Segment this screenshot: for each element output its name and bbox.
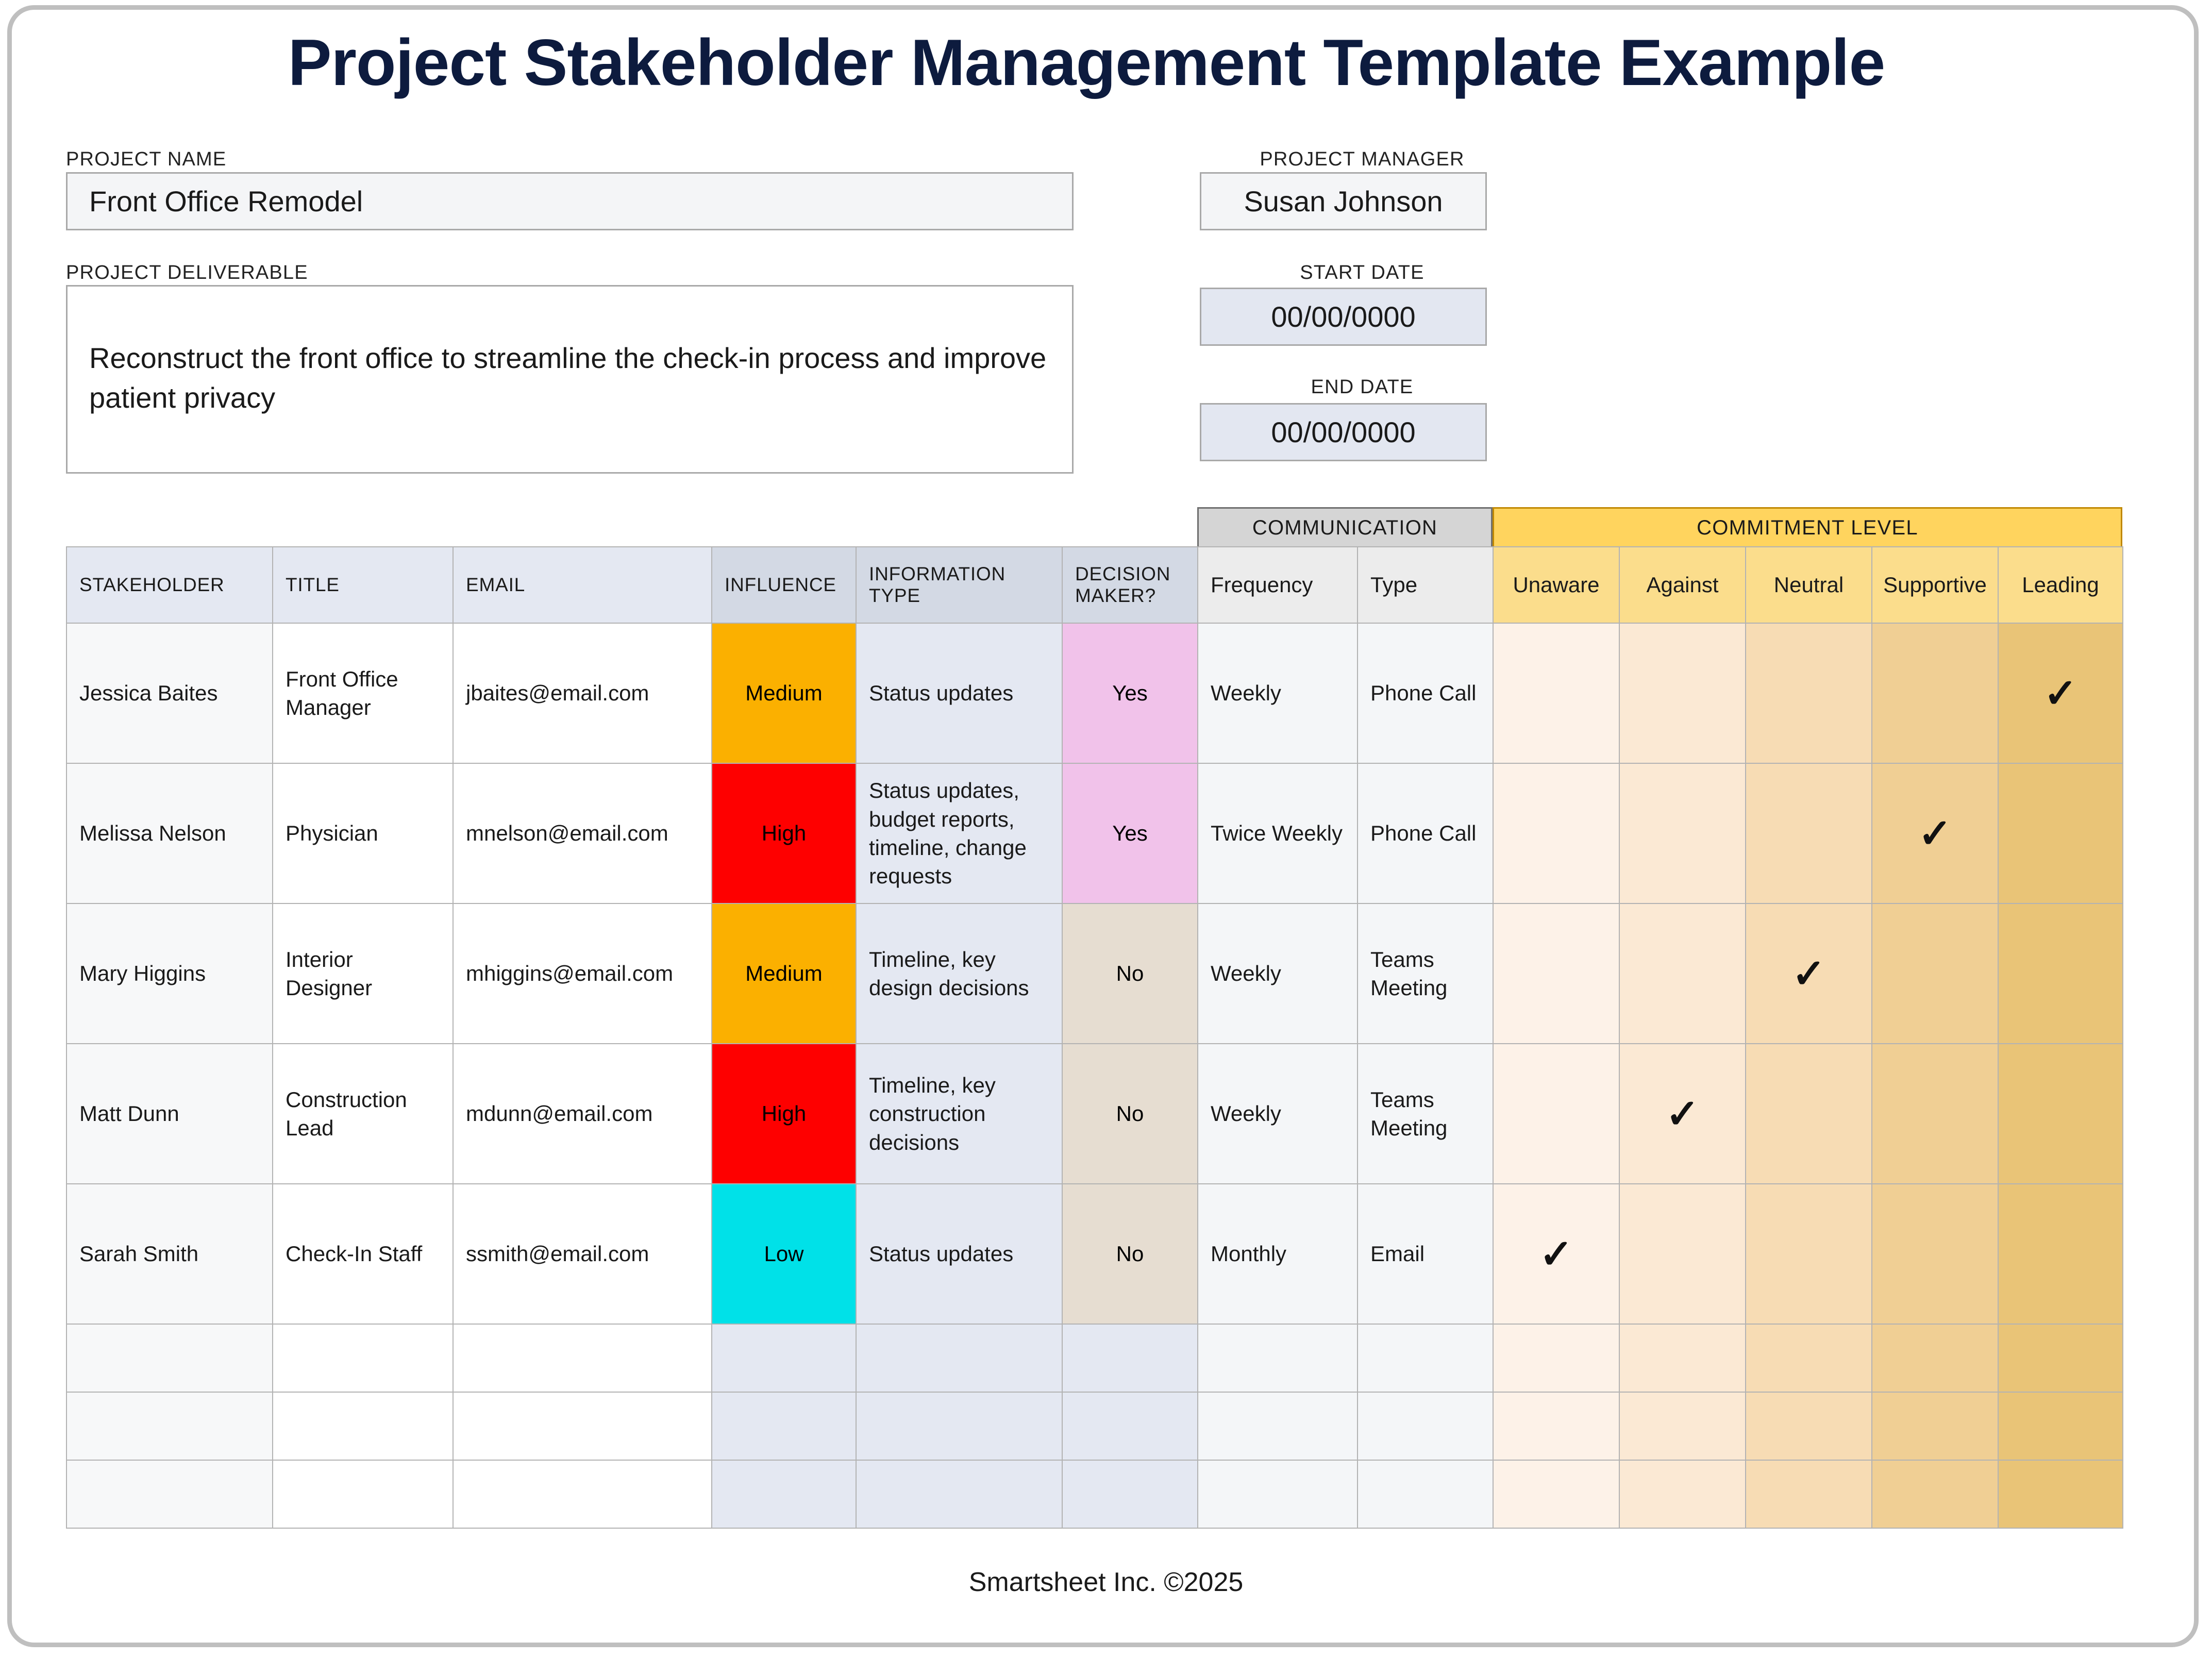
column-header-influence[interactable]: INFLUENCE [712,547,856,623]
column-header-unaware[interactable]: Unaware [1493,547,1619,623]
cell-information-type[interactable] [856,1460,1062,1528]
table-row [66,1392,2123,1460]
cell-commitment-supportive[interactable] [1872,903,1998,1044]
stakeholder-table: STAKEHOLDER TITLE EMAIL INFLUENCE INFORM… [66,546,2123,1529]
column-header-stakeholder[interactable]: STAKEHOLDER [66,547,273,623]
cell-type[interactable]: Teams Meeting [1358,1044,1493,1184]
cell-influence[interactable] [712,1460,856,1528]
cell-commitment-supportive[interactable] [1872,623,1998,763]
cell-frequency[interactable] [1198,1392,1358,1460]
cell-type[interactable]: Teams Meeting [1358,903,1493,1044]
cell-commitment-neutral[interactable] [1746,1324,1872,1392]
cell-email[interactable] [453,1324,712,1392]
start-date-label: START DATE [1236,262,1488,284]
table-row: Melissa NelsonPhysicianmnelson@email.com… [66,763,2123,903]
cell-type[interactable]: Phone Call [1358,763,1493,903]
cell-commitment-unaware[interactable]: ✓ [1493,1184,1619,1324]
cell-commitment-neutral[interactable] [1746,1044,1872,1184]
project-deliverable-label: PROJECT DELIVERABLE [66,262,308,284]
table-body: Jessica BaitesFront Office Managerjbaite… [66,623,2123,1528]
table-row: Mary HigginsInterior Designermhiggins@em… [66,903,2123,1044]
column-header-decision-maker[interactable]: DECISION MAKER? [1062,547,1198,623]
column-header-information-type[interactable]: INFORMATION TYPE [856,547,1062,623]
page-title: Project Stakeholder Management Template … [40,28,2133,97]
group-header-communication: COMMUNICATION [1197,507,1493,547]
cell-commitment-against[interactable] [1619,1184,1746,1324]
end-date-label: END DATE [1236,376,1488,398]
cell-commitment-leading[interactable]: ✓ [1998,623,2123,763]
cell-commitment-supportive[interactable] [1872,1392,1998,1460]
cell-influence[interactable]: High [712,1044,856,1184]
cell-commitment-supportive[interactable]: ✓ [1872,763,1998,903]
cell-email[interactable]: jbaites@email.com [453,623,712,763]
column-header-leading[interactable]: Leading [1998,547,2123,623]
cell-frequency[interactable]: Monthly [1198,1184,1358,1324]
cell-frequency[interactable]: Twice Weekly [1198,763,1358,903]
cell-type[interactable] [1358,1324,1493,1392]
table-header-row: STAKEHOLDER TITLE EMAIL INFLUENCE INFORM… [66,547,2123,623]
cell-influence[interactable]: Medium [712,623,856,763]
cell-commitment-against[interactable] [1619,1460,1746,1528]
column-header-against[interactable]: Against [1619,547,1746,623]
cell-decision-maker[interactable] [1062,1392,1198,1460]
cell-decision-maker[interactable]: No [1062,903,1198,1044]
check-icon: ✓ [1918,813,1952,853]
cell-commitment-leading[interactable] [1998,1044,2123,1184]
cell-commitment-against[interactable] [1619,1324,1746,1392]
cell-email[interactable] [453,1392,712,1460]
cell-decision-maker[interactable]: No [1062,1044,1198,1184]
cell-stakeholder[interactable] [66,1324,273,1392]
cell-information-type[interactable] [856,1392,1062,1460]
column-header-title[interactable]: TITLE [273,547,453,623]
project-name-label: PROJECT NAME [66,148,226,171]
cell-commitment-supportive[interactable] [1872,1184,1998,1324]
template-sheet: Project Stakeholder Management Template … [0,0,2212,1658]
table-row: Sarah SmithCheck-In Staffssmith@email.co… [66,1184,2123,1324]
cell-influence[interactable]: Medium [712,903,856,1044]
cell-commitment-against[interactable] [1619,763,1746,903]
project-deliverable-input[interactable]: Reconstruct the front office to streamli… [66,285,1074,474]
cell-title[interactable] [273,1460,453,1528]
cell-commitment-against[interactable] [1619,623,1746,763]
cell-type[interactable]: Email [1358,1184,1493,1324]
column-header-neutral[interactable]: Neutral [1746,547,1872,623]
cell-commitment-neutral[interactable]: ✓ [1746,903,1872,1044]
cell-information-type[interactable]: Timeline, key design decisions [856,903,1062,1044]
cell-title[interactable]: Interior Designer [273,903,453,1044]
cell-information-type[interactable]: Status updates [856,623,1062,763]
table-row: Matt DunnConstruction Leadmdunn@email.co… [66,1044,2123,1184]
cell-stakeholder[interactable] [66,1460,273,1528]
cell-information-type[interactable]: Timeline, key construction decisions [856,1044,1062,1184]
cell-commitment-supportive[interactable] [1872,1324,1998,1392]
cell-influence[interactable]: High [712,763,856,903]
cell-type[interactable] [1358,1392,1493,1460]
cell-commitment-against[interactable]: ✓ [1619,1044,1746,1184]
cell-frequency[interactable] [1198,1460,1358,1528]
cell-commitment-leading[interactable] [1998,1184,2123,1324]
check-icon: ✓ [1792,953,1825,994]
cell-decision-maker[interactable]: Yes [1062,623,1198,763]
cell-frequency[interactable]: Weekly [1198,903,1358,1044]
cell-frequency[interactable]: Weekly [1198,623,1358,763]
cell-commitment-against[interactable] [1619,1392,1746,1460]
cell-decision-maker[interactable]: Yes [1062,763,1198,903]
cell-title[interactable]: Physician [273,763,453,903]
column-header-supportive[interactable]: Supportive [1872,547,1998,623]
cell-type[interactable] [1358,1460,1493,1528]
cell-stakeholder[interactable] [66,1392,273,1460]
cell-commitment-unaware[interactable] [1493,623,1619,763]
cell-commitment-against[interactable] [1619,903,1746,1044]
cell-stakeholder[interactable]: Matt Dunn [66,1044,273,1184]
column-header-frequency[interactable]: Frequency [1198,547,1358,623]
cell-commitment-unaware[interactable] [1493,763,1619,903]
cell-commitment-neutral[interactable] [1746,1392,1872,1460]
group-header-commitment-level: COMMITMENT LEVEL [1493,507,2122,547]
cell-decision-maker[interactable] [1062,1324,1198,1392]
cell-title[interactable]: Check-In Staff [273,1184,453,1324]
project-name-input[interactable]: Front Office Remodel [66,172,1074,230]
check-icon: ✓ [1539,1234,1573,1274]
cell-email[interactable]: mdunn@email.com [453,1044,712,1184]
start-date-input[interactable]: 00/00/0000 [1200,288,1487,346]
cell-email[interactable]: mnelson@email.com [453,763,712,903]
table-row [66,1324,2123,1392]
cell-title[interactable]: Construction Lead [273,1044,453,1184]
cell-frequency[interactable]: Weekly [1198,1044,1358,1184]
project-manager-input[interactable]: Susan Johnson [1200,172,1487,230]
cell-commitment-supportive[interactable] [1872,1460,1998,1528]
cell-commitment-neutral[interactable] [1746,1184,1872,1324]
cell-commitment-unaware[interactable] [1493,1044,1619,1184]
cell-decision-maker[interactable]: No [1062,1184,1198,1324]
cell-title[interactable] [273,1324,453,1392]
cell-email[interactable]: mhiggins@email.com [453,903,712,1044]
cell-stakeholder[interactable]: Mary Higgins [66,903,273,1044]
cell-commitment-leading[interactable] [1998,1324,2123,1392]
check-icon: ✓ [2043,673,2077,713]
project-manager-label: PROJECT MANAGER [1236,148,1488,171]
footer-copyright: Smartsheet Inc. ©2025 [0,1567,2212,1598]
cell-title[interactable] [273,1392,453,1460]
cell-frequency[interactable] [1198,1324,1358,1392]
cell-title[interactable]: Front Office Manager [273,623,453,763]
cell-commitment-supportive[interactable] [1872,1044,1998,1184]
cell-information-type[interactable] [856,1324,1062,1392]
cell-influence[interactable] [712,1392,856,1460]
table-row [66,1460,2123,1528]
cell-commitment-unaware[interactable] [1493,1392,1619,1460]
cell-commitment-unaware[interactable] [1493,1460,1619,1528]
cell-commitment-unaware[interactable] [1493,1324,1619,1392]
cell-commitment-leading[interactable] [1998,1392,2123,1460]
cell-commitment-neutral[interactable] [1746,1460,1872,1528]
cell-decision-maker[interactable] [1062,1460,1198,1528]
cell-stakeholder[interactable]: Sarah Smith [66,1184,273,1324]
cell-commitment-neutral[interactable] [1746,763,1872,903]
cell-stakeholder[interactable]: Melissa Nelson [66,763,273,903]
cell-influence[interactable] [712,1324,856,1392]
cell-commitment-leading[interactable] [1998,1460,2123,1528]
cell-information-type[interactable]: Status updates [856,1184,1062,1324]
cell-stakeholder[interactable]: Jessica Baites [66,623,273,763]
end-date-input[interactable]: 00/00/0000 [1200,403,1487,461]
cell-commitment-leading[interactable] [1998,903,2123,1044]
cell-email[interactable] [453,1460,712,1528]
table-row: Jessica BaitesFront Office Managerjbaite… [66,623,2123,763]
check-icon: ✓ [1666,1094,1699,1134]
cell-commitment-neutral[interactable] [1746,623,1872,763]
column-header-email[interactable]: EMAIL [453,547,712,623]
cell-commitment-unaware[interactable] [1493,903,1619,1044]
cell-commitment-leading[interactable] [1998,763,2123,903]
column-header-type[interactable]: Type [1358,547,1493,623]
cell-email[interactable]: ssmith@email.com [453,1184,712,1324]
cell-type[interactable]: Phone Call [1358,623,1493,763]
cell-influence[interactable]: Low [712,1184,856,1324]
cell-information-type[interactable]: Status updates, budget reports, timeline… [856,763,1062,903]
